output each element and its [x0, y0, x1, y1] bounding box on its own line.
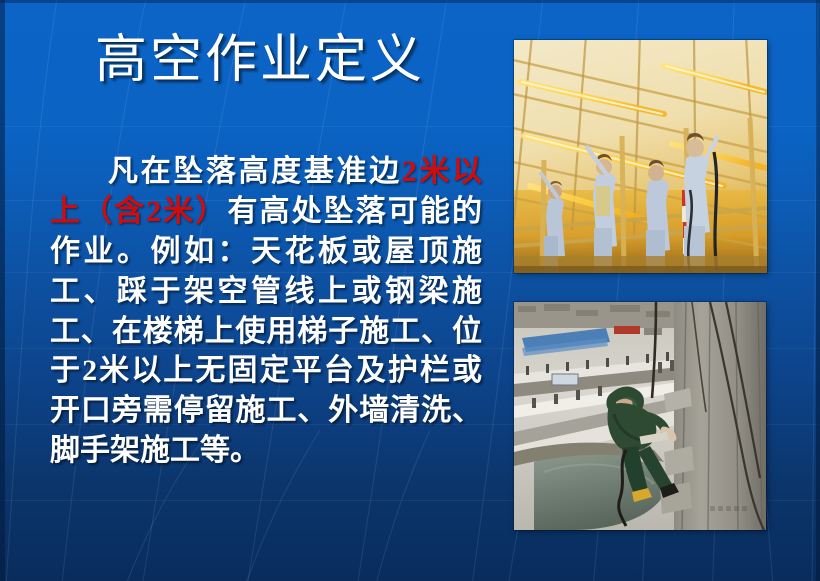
slide-edge-left — [0, 0, 5, 581]
slide-edge-right — [816, 0, 820, 581]
slide-edge-top — [0, 0, 820, 3]
slide-body-text: 凡在坠落高度基准边2米以上（含2米）有高处坠落可能的作业。例如：天花板或屋顶施工… — [50, 152, 482, 471]
slide-title: 高空作业定义 — [40, 34, 480, 89]
presentation-slide: 高空作业定义 凡在坠落高度基准边2米以上（含2米）有高处坠落可能的作业。例如：天… — [0, 0, 820, 581]
photo-worker-suspended-on-rope — [514, 302, 766, 530]
photo-workers-on-scaffolding-ceiling — [514, 40, 767, 273]
body-text-segment-2: 有高处坠落可能的作业。例如：天花板或屋顶施工、踩于架空管线上或钢梁施工、在楼梯上… — [50, 195, 482, 467]
body-text-segment-0: 凡在坠落高度基准边 — [108, 155, 402, 188]
